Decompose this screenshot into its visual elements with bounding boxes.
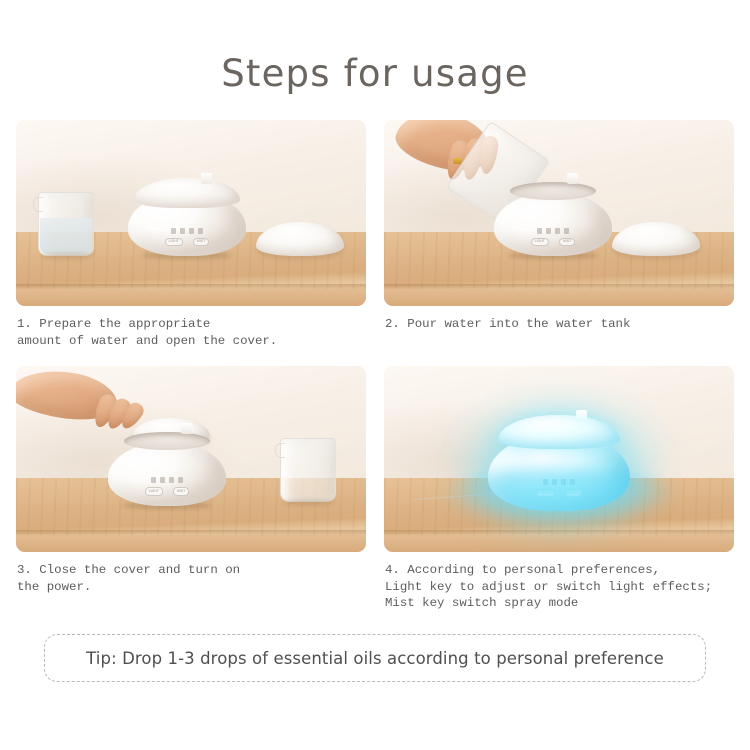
led-dot-icon	[198, 228, 203, 234]
step-caption-1: 1. Prepare the appropriate amount of wat…	[16, 306, 366, 352]
led-dot-icon	[189, 228, 194, 234]
diffuser-body	[108, 442, 226, 506]
water-tank-opening	[510, 182, 596, 200]
led-indicator-row	[136, 477, 198, 483]
light-button[interactable]: LIGHT	[145, 487, 163, 495]
led-dot-icon	[151, 477, 156, 483]
diffuser-lid	[134, 178, 240, 208]
table-front	[16, 289, 366, 306]
cup-water	[40, 218, 92, 254]
step-cell-2: LIGHT MIST 2. Pour water into the water …	[384, 120, 734, 352]
steps-grid: LIGHT MIST 1. Prepare the appropriate am…	[16, 120, 734, 612]
measuring-cup-empty	[280, 438, 336, 502]
led-dot-icon	[555, 228, 560, 234]
light-button[interactable]: LIGHT	[531, 238, 549, 246]
led-dot-icon	[546, 228, 551, 234]
step-caption-3: 3. Close the cover and turn on the power…	[16, 552, 366, 598]
diffuser-control-panel: LIGHT MIST	[136, 477, 198, 495]
device-button-row: LIGHT MIST	[522, 238, 584, 246]
water-tank-opening	[124, 432, 210, 450]
step-cell-1: LIGHT MIST 1. Prepare the appropriate am…	[16, 120, 366, 352]
led-dot-icon	[564, 228, 569, 234]
table-front	[16, 535, 366, 552]
step-cell-3: LIGHT MIST 3. Close the cover and turn o…	[16, 366, 366, 612]
table-front	[384, 535, 734, 552]
light-button[interactable]: LIGHT	[165, 238, 183, 246]
led-indicator-row	[522, 228, 584, 234]
measuring-cup	[38, 192, 94, 256]
cup-shadow	[41, 253, 93, 259]
led-indicator-row	[156, 228, 218, 234]
led-dot-icon	[171, 228, 176, 234]
diffuser-lid	[498, 415, 620, 449]
diffuser-nozzle	[201, 173, 212, 184]
tip-text: Tip: Drop 1-3 drops of essential oils ac…	[86, 649, 664, 668]
device-button-row: LIGHT MIST	[156, 238, 218, 246]
led-dot-icon	[160, 477, 165, 483]
mist-button[interactable]: MIST	[173, 487, 189, 495]
cup-shadow	[283, 499, 335, 505]
diffuser-device-open: LIGHT MIST	[108, 428, 226, 506]
diffuser-device: LIGHT MIST	[128, 178, 246, 256]
led-dot-icon	[180, 228, 185, 234]
diffuser-nozzle	[576, 410, 587, 421]
mist-button[interactable]: MIST	[193, 238, 209, 246]
diffuser-control-panel: LIGHT MIST	[522, 228, 584, 246]
device-button-row: LIGHT MIST	[136, 487, 198, 495]
step-photo-4: LIGHT MIST	[384, 366, 734, 552]
step-photo-3: LIGHT MIST	[16, 366, 366, 552]
step-photo-2: LIGHT MIST	[384, 120, 734, 306]
mist-button[interactable]: MIST	[559, 238, 575, 246]
diffuser-nozzle	[181, 423, 192, 434]
led-dot-icon	[178, 477, 183, 483]
step-caption-2: 2. Pour water into the water tank	[384, 306, 734, 352]
diffuser-device-open: LIGHT MIST	[494, 178, 612, 256]
light-spill-on-table	[444, 468, 674, 524]
tip-box: Tip: Drop 1-3 drops of essential oils ac…	[44, 634, 706, 682]
led-dot-icon	[537, 228, 542, 234]
diffuser-body	[494, 192, 612, 256]
led-dot-icon	[169, 477, 174, 483]
step-caption-4: 4. According to personal preferences, Li…	[384, 552, 734, 612]
table-front	[384, 289, 734, 306]
diffuser-nozzle	[567, 173, 578, 184]
step-photo-1: LIGHT MIST	[16, 120, 366, 306]
diffuser-control-panel: LIGHT MIST	[156, 228, 218, 246]
step-cell-4: LIGHT MIST 4. According to personal pref…	[384, 366, 734, 612]
page-title: Steps for usage	[0, 0, 750, 108]
